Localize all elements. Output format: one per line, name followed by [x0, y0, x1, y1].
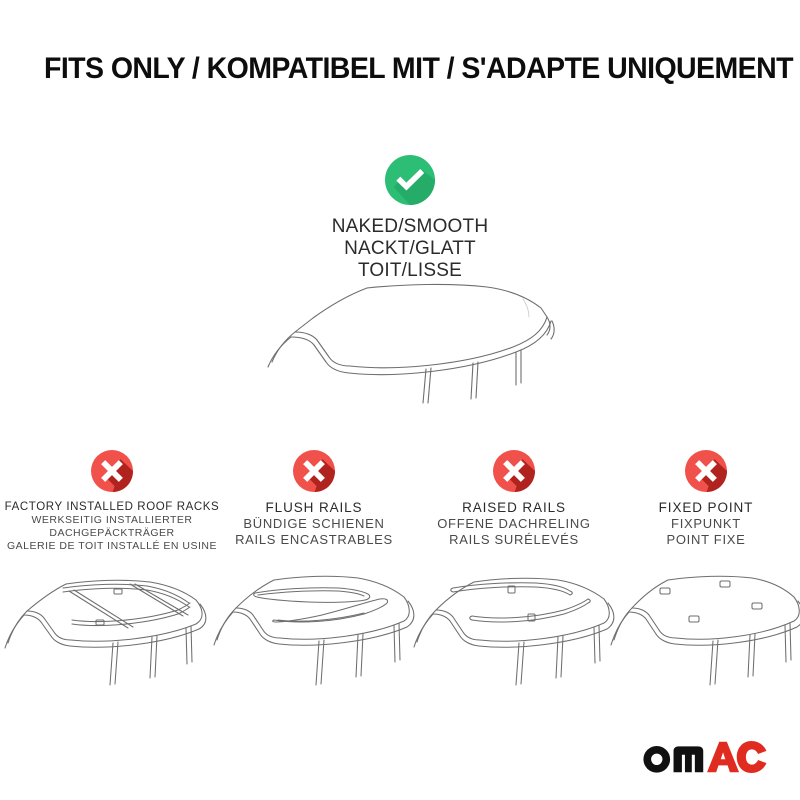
flush-rails-illustration	[212, 558, 416, 698]
roof-type-raised-rails: RAISED RAILS OFFENE DACHRELING RAILS SUR…	[412, 450, 616, 548]
roof-type-fixed-point: FIXED POINT FIXPUNKT POINT FIXE	[612, 450, 800, 548]
approved-label-group: NAKED/SMOOTH NACKT/GLATT TOIT/LISSE	[250, 216, 570, 282]
roof-type-factory-installed-roof-racks: FACTORY INSTALLED ROOF RACKS WERKSEITIG …	[0, 450, 224, 552]
page-title: FITS ONLY / KOMPATIBEL MIT / S'ADAPTE UN…	[44, 53, 728, 85]
roof-type-flush-rails: FLUSH RAILS BÜNDIGE SCHIENEN RAILS ENCAS…	[212, 450, 416, 548]
omac-logo-letter-m	[674, 746, 704, 772]
roof-type-label-group: RAISED RAILS OFFENE DACHRELING RAILS SUR…	[412, 500, 616, 548]
roof-type-label-line-4: GALERIE DE TOIT INSTALLÉ EN USINE	[0, 540, 224, 553]
approved-roof-type-block: NAKED/SMOOTH NACKT/GLATT TOIT/LISSE	[250, 155, 570, 282]
x-circle-icon	[685, 450, 727, 492]
roof-type-label-line-2: FIXPUNKT	[612, 516, 800, 532]
roof-type-label-group: FIXED POINT FIXPUNKT POINT FIXE	[612, 500, 800, 548]
naked-smooth-roof-illustration	[255, 277, 575, 407]
omac-logo-letter-a	[707, 742, 739, 772]
roof-type-label-line-1: FLUSH RAILS	[212, 500, 416, 516]
x-circle-icon	[493, 450, 535, 492]
approved-label-line-1: NAKED/SMOOTH	[250, 216, 570, 238]
x-circle-icon	[91, 450, 133, 492]
roof-type-label-line-1: RAISED RAILS	[412, 500, 616, 516]
roof-type-label-line-2: BÜNDIGE SCHIENEN	[212, 516, 416, 532]
roof-type-label-group: FLUSH RAILS BÜNDIGE SCHIENEN RAILS ENCAS…	[212, 500, 416, 548]
omac-logo	[640, 734, 768, 774]
omac-logo-letter-c	[737, 741, 767, 773]
roof-type-label-line-3: RAILS ENCASTRABLES	[212, 532, 416, 548]
roof-type-label-line-3: POINT FIXE	[612, 532, 800, 548]
roof-type-label-line-2: WERKSEITIG INSTALLIERTER	[0, 514, 224, 527]
omac-logo-mark	[640, 740, 768, 774]
roof-type-label-group: FACTORY INSTALLED ROOF RACKS WERKSEITIG …	[0, 500, 224, 552]
roof-type-label-line-3: RAILS SURÉLEVÉS	[412, 532, 616, 548]
roof-type-label-line-2: OFFENE DACHRELING	[412, 516, 616, 532]
raised-rails-illustration	[412, 558, 616, 698]
x-circle-icon	[293, 450, 335, 492]
roof-type-label-line-3: DACHGEPÄCKTRÄGER	[0, 527, 224, 540]
approved-label-line-2: NACKT/GLATT	[250, 238, 570, 260]
roof-type-label-line-1: FACTORY INSTALLED ROOF RACKS	[0, 500, 224, 514]
check-circle-icon	[385, 155, 435, 205]
factory-roof-rack-illustration	[0, 558, 224, 698]
omac-logo-letter-o	[643, 746, 670, 773]
fixed-point-illustration	[612, 558, 800, 698]
not-fit-roof-type-row: FACTORY INSTALLED ROOF RACKS WERKSEITIG …	[0, 450, 800, 700]
roof-type-label-line-1: FIXED POINT	[612, 500, 800, 516]
